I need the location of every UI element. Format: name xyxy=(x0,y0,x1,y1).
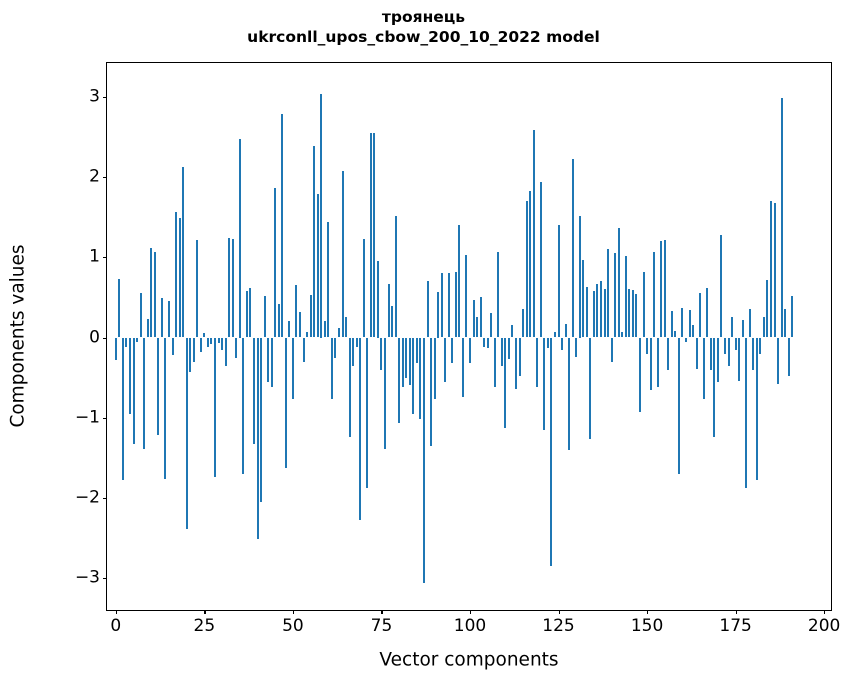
bar xyxy=(186,338,188,529)
bar xyxy=(154,252,156,337)
bar xyxy=(299,312,301,338)
bar xyxy=(696,338,698,369)
bar xyxy=(480,297,482,337)
bar xyxy=(728,338,730,367)
bar xyxy=(444,338,446,382)
bar xyxy=(681,308,683,338)
bar xyxy=(147,319,149,337)
bar xyxy=(742,320,744,338)
bar xyxy=(345,317,347,337)
bar xyxy=(784,309,786,337)
bar xyxy=(402,338,404,388)
chart-title-line1: троянець xyxy=(0,8,847,28)
bar xyxy=(356,338,358,348)
bar xyxy=(511,325,513,337)
bar xyxy=(140,293,142,337)
bar xyxy=(398,338,400,424)
bar xyxy=(334,338,336,358)
bar xyxy=(405,338,407,378)
bar xyxy=(487,338,489,348)
x-tick-label: 175 xyxy=(719,618,751,635)
bar xyxy=(763,317,765,337)
bar xyxy=(274,188,276,337)
x-tick-mark xyxy=(116,610,117,614)
bar xyxy=(342,171,344,337)
bar xyxy=(430,338,432,446)
bar xyxy=(490,313,492,337)
bar xyxy=(313,146,315,337)
bar xyxy=(281,114,283,337)
y-tick-label: 0 xyxy=(89,329,100,346)
y-tick-mark xyxy=(103,498,107,499)
bar xyxy=(129,338,131,414)
y-tick-label: 3 xyxy=(89,88,100,105)
bar xyxy=(703,338,705,400)
bar xyxy=(150,248,152,338)
bar xyxy=(359,338,361,520)
bar xyxy=(536,338,538,388)
bar xyxy=(320,94,322,338)
bar xyxy=(501,338,503,366)
bar xyxy=(476,317,478,338)
bar xyxy=(745,338,747,489)
bar xyxy=(136,338,138,343)
x-tick-label: 200 xyxy=(808,618,840,635)
bar xyxy=(416,338,418,364)
bar xyxy=(427,281,429,337)
bar xyxy=(604,289,606,337)
bar xyxy=(168,301,170,337)
bar xyxy=(133,338,135,445)
bar xyxy=(625,256,627,338)
bar xyxy=(582,260,584,338)
bar xyxy=(770,201,772,337)
bar xyxy=(161,298,163,337)
bar xyxy=(285,338,287,468)
bar xyxy=(713,338,715,438)
bar xyxy=(738,338,740,381)
bar xyxy=(660,241,662,337)
bar xyxy=(759,338,761,355)
bar xyxy=(731,317,733,337)
bar xyxy=(118,279,120,338)
x-tick-mark xyxy=(204,610,205,614)
y-tick-mark xyxy=(103,418,107,419)
bar xyxy=(235,338,237,359)
bar xyxy=(558,225,560,337)
bar xyxy=(639,338,641,413)
bar xyxy=(288,321,290,338)
bar xyxy=(596,284,598,338)
bar xyxy=(586,287,588,338)
bar xyxy=(497,252,499,337)
bar xyxy=(469,338,471,364)
plot-axes: −3−2−10123 0255075100125150175200 xyxy=(106,62,832,611)
bar xyxy=(522,309,524,337)
bar xyxy=(720,235,722,338)
bar xyxy=(200,338,202,352)
x-tick-mark xyxy=(559,610,560,614)
bar xyxy=(473,300,475,338)
y-tick-label: −3 xyxy=(75,570,100,587)
bar xyxy=(519,338,521,377)
bar xyxy=(533,130,535,338)
bar xyxy=(674,331,676,337)
bar xyxy=(621,332,623,338)
bar xyxy=(579,216,581,338)
bar xyxy=(196,240,198,338)
bar xyxy=(781,98,783,338)
bar xyxy=(646,338,648,355)
bar xyxy=(164,338,166,479)
bar xyxy=(242,338,244,474)
matplotlib-figure: троянець ukrconll_upos_cbow_200_10_2022 … xyxy=(0,0,847,696)
bar xyxy=(303,338,305,363)
x-tick-label: 100 xyxy=(454,618,486,635)
bar xyxy=(515,338,517,389)
bar xyxy=(366,338,368,489)
bar xyxy=(441,273,443,337)
bar xyxy=(699,293,701,337)
bar xyxy=(664,240,666,337)
bar xyxy=(692,325,694,337)
bar xyxy=(172,338,174,356)
y-axis-label: Components values xyxy=(8,244,29,427)
bar xyxy=(363,239,365,338)
bar xyxy=(317,194,319,338)
bar xyxy=(278,304,280,338)
x-tick-label: 25 xyxy=(194,618,216,635)
bar xyxy=(182,167,184,337)
bar xyxy=(589,338,591,439)
bar xyxy=(122,338,124,480)
bar xyxy=(260,338,262,503)
bar xyxy=(331,338,333,400)
bar xyxy=(671,311,673,337)
bar xyxy=(458,225,460,337)
y-tick-label: −2 xyxy=(75,490,100,507)
bar xyxy=(611,338,613,362)
bar xyxy=(653,252,655,337)
bar xyxy=(607,249,609,337)
bar xyxy=(377,261,379,337)
y-tick-label: 2 xyxy=(89,168,100,185)
bar xyxy=(228,238,230,338)
bar xyxy=(434,338,436,400)
bar xyxy=(249,288,251,338)
bar xyxy=(338,328,340,338)
bar xyxy=(115,338,117,360)
bar xyxy=(423,338,425,584)
bar xyxy=(264,296,266,338)
y-tick-label: −1 xyxy=(75,409,100,426)
bar xyxy=(593,291,595,338)
bar xyxy=(267,338,269,383)
bar xyxy=(561,338,563,350)
bar xyxy=(214,338,216,478)
bar xyxy=(777,338,779,385)
bar xyxy=(526,201,528,337)
y-tick-mark xyxy=(103,177,107,178)
bar xyxy=(643,272,645,338)
x-tick-mark xyxy=(470,610,471,614)
bar xyxy=(774,203,776,338)
bar xyxy=(373,133,375,338)
bar xyxy=(710,338,712,370)
bar xyxy=(735,338,737,350)
bar xyxy=(349,338,351,438)
bar xyxy=(614,253,616,337)
bar xyxy=(370,133,372,338)
x-tick-label: 125 xyxy=(542,618,574,635)
x-tick-mark xyxy=(293,610,294,614)
bar xyxy=(193,338,195,362)
bar xyxy=(232,239,234,338)
y-tick-mark xyxy=(103,97,107,98)
bar xyxy=(409,338,411,385)
bar xyxy=(717,338,719,382)
bar xyxy=(565,324,567,338)
x-tick-mark xyxy=(381,610,382,614)
bar xyxy=(600,281,602,337)
bar xyxy=(650,338,652,391)
x-tick-mark xyxy=(824,610,825,614)
bar xyxy=(352,338,354,366)
bar xyxy=(724,338,726,354)
bar-series-area xyxy=(107,63,831,610)
bar xyxy=(706,288,708,338)
bar xyxy=(543,338,545,430)
bar xyxy=(550,338,552,567)
chart-title: троянець ukrconll_upos_cbow_200_10_2022 … xyxy=(0,8,847,48)
bar xyxy=(412,338,414,414)
bar xyxy=(324,321,326,337)
bar xyxy=(306,332,308,338)
bar xyxy=(756,338,758,480)
bar xyxy=(239,139,241,337)
bar xyxy=(395,216,397,337)
x-tick-mark xyxy=(647,610,648,614)
bar xyxy=(685,338,687,342)
bar xyxy=(554,332,556,338)
bar xyxy=(292,338,294,399)
bar xyxy=(210,338,212,344)
bar xyxy=(465,255,467,338)
bar xyxy=(547,338,549,348)
bar xyxy=(657,338,659,388)
bar xyxy=(483,338,485,348)
bar xyxy=(628,289,630,337)
bar xyxy=(749,309,751,337)
bar xyxy=(540,182,542,338)
bar xyxy=(125,338,127,348)
bar xyxy=(271,338,273,388)
bar xyxy=(689,310,691,337)
bar xyxy=(448,273,450,337)
bar xyxy=(572,159,574,338)
bar xyxy=(221,338,223,351)
x-tick-label: 75 xyxy=(371,618,393,635)
bar xyxy=(635,294,637,337)
bar xyxy=(143,338,145,450)
bar xyxy=(225,338,227,366)
bar xyxy=(462,338,464,397)
bar xyxy=(568,338,570,450)
y-tick-mark xyxy=(103,338,107,339)
bar xyxy=(752,338,754,371)
bar xyxy=(179,218,181,338)
bar xyxy=(508,338,510,360)
x-tick-label: 0 xyxy=(110,618,121,635)
bar xyxy=(388,284,390,338)
bar xyxy=(327,222,329,338)
bar xyxy=(791,296,793,338)
bar xyxy=(667,338,669,371)
bar xyxy=(257,338,259,539)
bar xyxy=(175,212,177,337)
x-tick-mark xyxy=(736,610,737,614)
x-tick-label: 50 xyxy=(282,618,304,635)
bar xyxy=(218,338,220,344)
bar xyxy=(157,338,159,436)
chart-title-line2: ukrconll_upos_cbow_200_10_2022 model xyxy=(0,28,847,48)
bar xyxy=(504,338,506,429)
bar xyxy=(295,285,297,337)
bar xyxy=(451,338,453,364)
y-tick-mark xyxy=(103,257,107,258)
bar xyxy=(203,333,205,337)
bar xyxy=(310,295,312,338)
bar xyxy=(437,292,439,338)
x-axis-label: Vector components xyxy=(379,650,558,671)
y-tick-mark xyxy=(103,578,107,579)
bar xyxy=(189,338,191,373)
bar xyxy=(529,191,531,337)
bar xyxy=(494,338,496,388)
bar xyxy=(207,338,209,348)
y-tick-label: 1 xyxy=(89,249,100,266)
bar xyxy=(455,272,457,338)
bar xyxy=(632,290,634,337)
bar xyxy=(253,338,255,445)
bar xyxy=(766,280,768,338)
bar xyxy=(618,228,620,337)
bar xyxy=(246,291,248,338)
bar xyxy=(788,338,790,377)
bar xyxy=(678,338,680,474)
bar xyxy=(384,338,386,450)
bar xyxy=(380,338,382,370)
bar xyxy=(575,338,577,357)
x-tick-label: 150 xyxy=(631,618,663,635)
bar xyxy=(419,338,421,419)
bar xyxy=(391,306,393,337)
